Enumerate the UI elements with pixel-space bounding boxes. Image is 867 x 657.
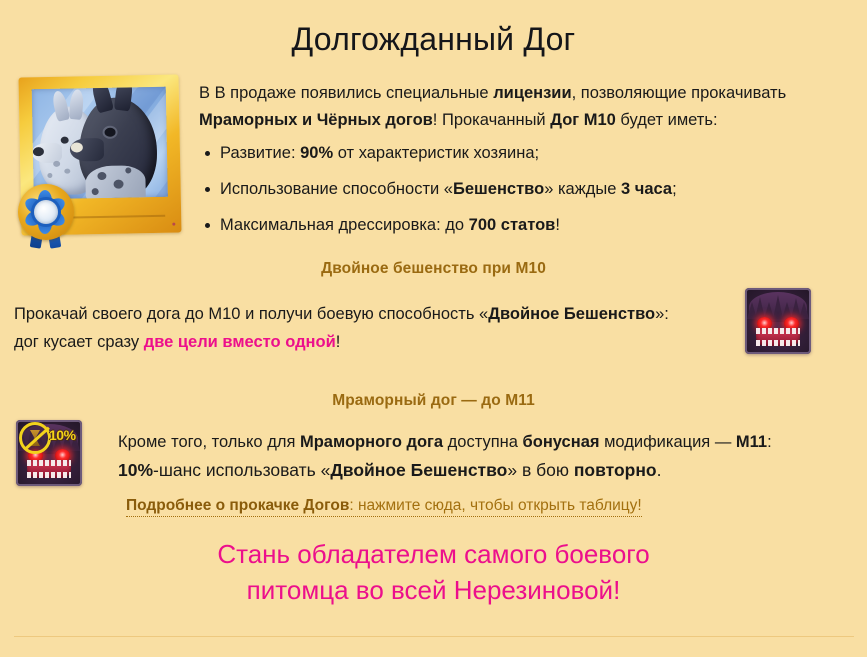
m11-bold-percent: 10% [118, 460, 153, 480]
double-rage-description: Прокачай своего дога до М10 и получи бое… [14, 300, 734, 356]
call-to-action: Стань обладателем самого боевого питомца… [0, 536, 867, 608]
dog-ear [51, 90, 70, 122]
m11-bold-ability: Двойное Бешенство [330, 460, 507, 480]
frame-dot [172, 223, 175, 226]
bullet-text-bold: 90% [300, 144, 333, 162]
monster-teeth [756, 340, 800, 346]
rage-text-part: ! [336, 333, 341, 351]
m11-text-part: -шанс использовать « [153, 460, 330, 480]
bullet-text-post2: ; [672, 180, 677, 198]
bullet-text-pre: Использование способности « [220, 180, 453, 198]
list-item: Развитие: 90% от характеристик хозяина; [220, 140, 867, 167]
dog-spot [64, 169, 70, 174]
monster-teeth [756, 328, 800, 334]
dog-ear [114, 87, 134, 112]
m11-description: Кроме того, только для Мраморного дога д… [118, 428, 858, 484]
m11-bold-m11: М11 [736, 433, 767, 451]
m11-text-part: Кроме того, только для [118, 433, 300, 451]
cta-line-2: питомца во всей Нерезиновой! [0, 572, 867, 608]
list-item: Использование способности «Бешенство» ка… [220, 176, 867, 203]
monster-mouth [27, 460, 71, 478]
page-title: Долгожданный Дог [0, 20, 867, 58]
bottom-divider [14, 636, 854, 637]
intro-bold-licenses: лицензии [493, 84, 571, 102]
dog-spot [53, 161, 60, 167]
more-info-link-bold: Подробнее о прокачке Догов [126, 497, 349, 514]
rage-text-part: дог кусает сразу [14, 333, 144, 351]
bullet-text-bold2: 3 часа [621, 180, 672, 198]
section-heading-double-rage: Двойное бешенство при М10 [0, 260, 867, 278]
bullet-text-post: ! [555, 216, 560, 234]
frame-caption-line [65, 215, 165, 219]
more-info-link[interactable]: Подробнее о прокачке Догов: нажмите сюда… [126, 497, 642, 517]
m11-bold-marble-dog: Мраморного дога [300, 433, 443, 451]
rage-monster-icon [745, 288, 811, 354]
bullet-text-post: от характеристик хозяина; [333, 144, 539, 162]
m11-bold-again: повторно [574, 460, 657, 480]
dog-ear [90, 87, 114, 114]
rage-bold-ability: Двойное Бешенство [488, 305, 655, 323]
m11-line-2: 10%-шанс использовать «Двойное Бешенство… [118, 456, 858, 484]
bullet-text-bold: 700 статов [469, 216, 556, 234]
rage-text-part: »: [655, 305, 669, 323]
section-heading-marble-m11: Мраморный дог — до М11 [0, 392, 867, 410]
m11-text-part: : [767, 433, 772, 451]
intro-bold-breeds: Мраморных и Чёрных догов [199, 111, 433, 129]
m11-line-1: Кроме того, только для Мраморного дога д… [118, 428, 858, 456]
list-item: Максимальная дрессировка: до 700 статов! [220, 212, 867, 239]
rage-highlight-two-targets: две цели вместо одной [144, 333, 336, 351]
bullet-text-pre: Максимальная дрессировка: до [220, 216, 469, 234]
dog-eye [104, 128, 115, 137]
dog-spot [97, 172, 106, 180]
rage-line-1: Прокачай своего дога до М10 и получи бое… [14, 300, 734, 328]
m11-text-part: модификация — [600, 433, 736, 451]
bullet-text-pre: Развитие: [220, 144, 300, 162]
m11-bold-bonus: бонусная [523, 433, 600, 451]
dog-eye [61, 137, 69, 144]
m11-text-part: доступна [443, 433, 522, 451]
m11-text-part: » в бою [507, 460, 574, 480]
photo-image [32, 87, 168, 200]
bullet-text-post: » каждые [544, 180, 621, 198]
monster-spike [799, 302, 809, 319]
dog-spot [47, 173, 52, 178]
intro-text-part: будет иметь: [616, 111, 718, 129]
dog-spot [125, 167, 131, 173]
monster-teeth [27, 472, 71, 478]
feature-list: Развитие: 90% от характеристик хозяина; … [199, 140, 867, 248]
intro-text-part: ! Прокачанный [433, 111, 550, 129]
rage-line-2: дог кусает сразу две цели вместо одной! [14, 328, 734, 356]
no-cooldown-icon [19, 422, 51, 454]
monster-spikes [747, 289, 809, 319]
dog-spot [92, 188, 99, 195]
intro-text-part: , позволяющие прокачивать [572, 84, 787, 102]
promo-page: Долгожданный Дог [0, 0, 867, 657]
m11-monster-icon: 10% [16, 420, 82, 486]
more-info-link-rest: : нажмите сюда, чтобы открыть таблицу! [349, 497, 641, 514]
cta-line-1: Стань обладателем самого боевого [0, 536, 867, 572]
chance-percent-badge: 10% [49, 427, 76, 443]
medal-center [34, 200, 58, 224]
blue-rosette-medal [16, 184, 78, 250]
bullet-text-bold: Бешенство [453, 180, 544, 198]
m11-text-part: . [657, 460, 662, 480]
intro-paragraph: В В продаже появились специальные лиценз… [199, 80, 849, 134]
monster-mouth [756, 328, 800, 346]
intro-bold-dog-m10: Дог М10 [550, 111, 616, 129]
dog-photo-frame [16, 76, 188, 244]
intro-text-part: В В продаже появились специальные [199, 84, 493, 102]
rage-text-part: Прокачай своего дога до М10 и получи бое… [14, 305, 488, 323]
monster-teeth [27, 460, 71, 466]
